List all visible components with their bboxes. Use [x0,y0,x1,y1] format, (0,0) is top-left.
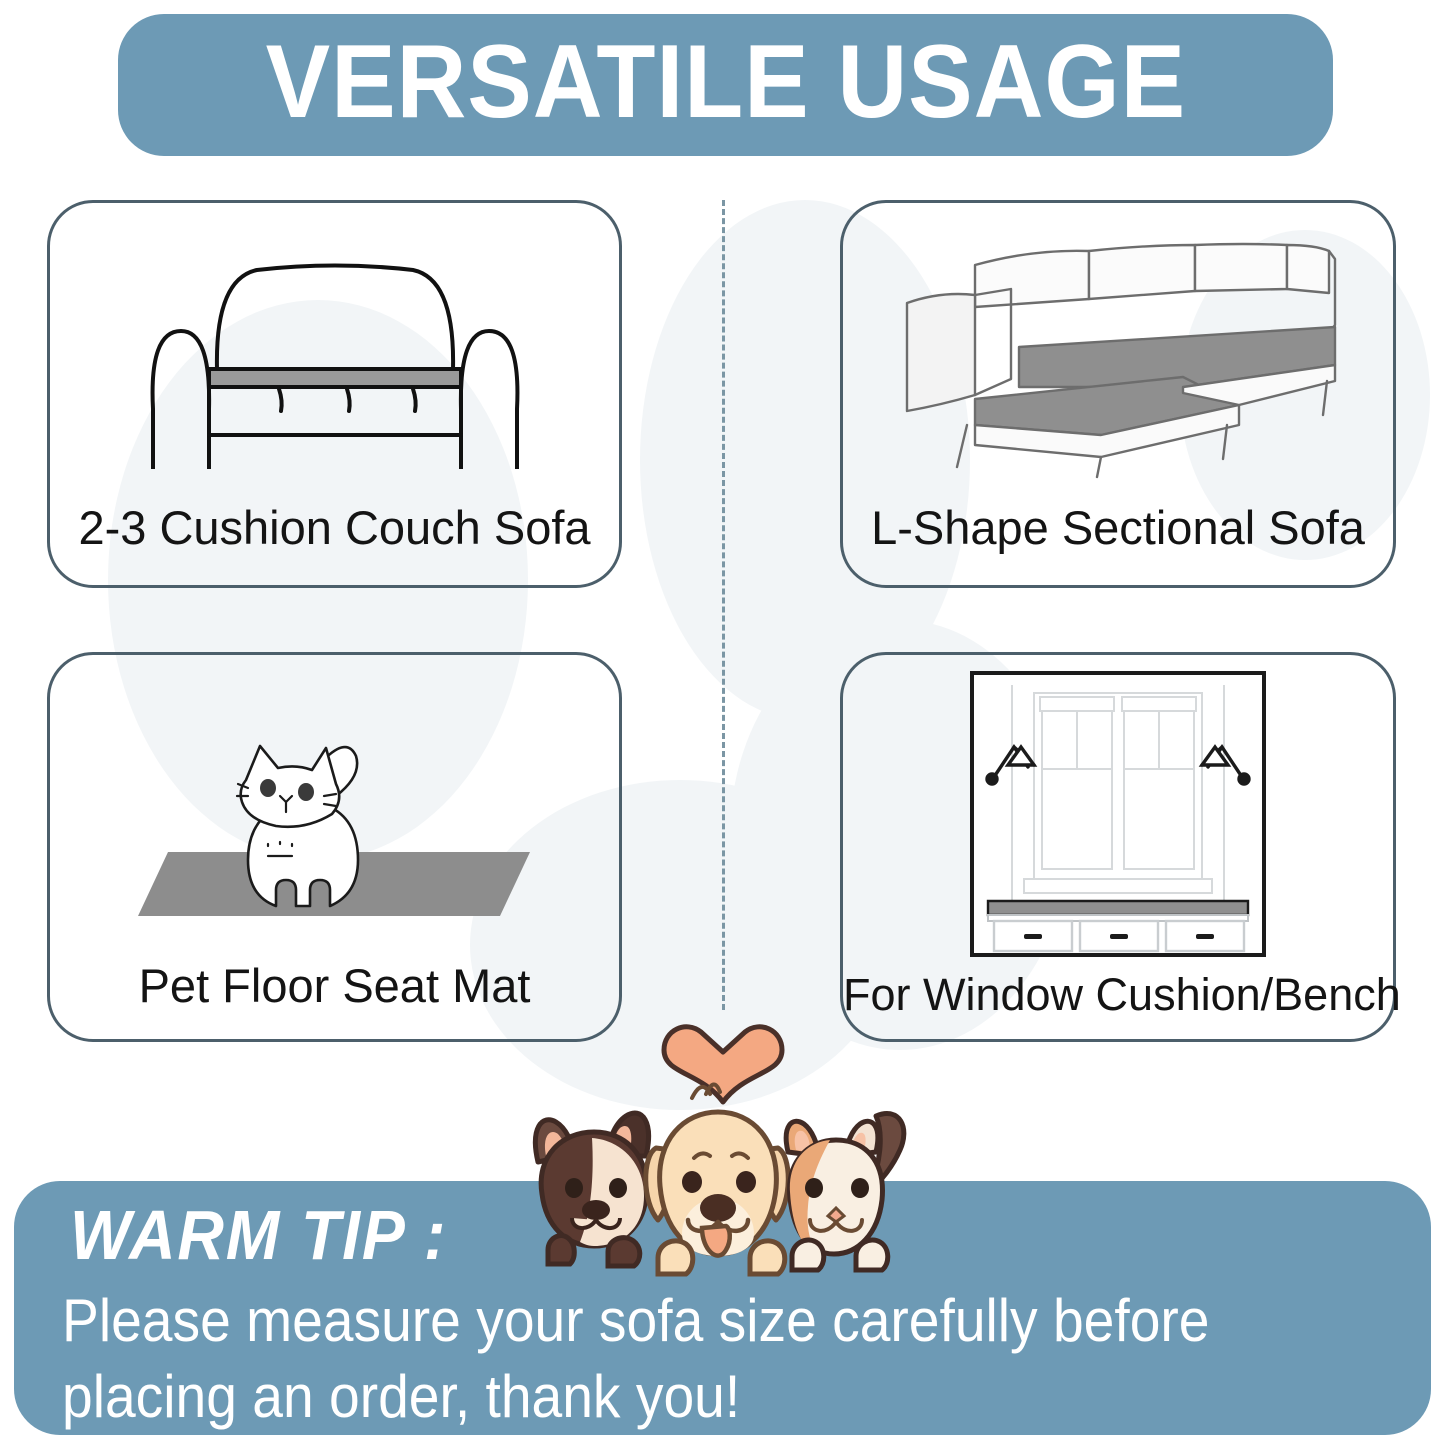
sofa-line-art-icon [135,239,535,469]
window-bench-sketch-icon [968,669,1268,959]
usage-card-window-bench[interactable]: For Window Cushion/Bench [840,652,1396,1042]
card-illustration [843,655,1393,972]
header-banner: VERSATILE USAGE [118,14,1333,156]
cream-cat-icon [786,1114,904,1270]
cat-eye [298,783,314,801]
page-title: VERSATILE USAGE [265,30,1185,140]
warm-tip-heading: WARM TIP : [70,1195,447,1275]
usage-card-couch-sofa[interactable]: 2-3 Cushion Couch Sofa [47,200,622,588]
infographic-page: VERSATILE USAGE [0,0,1445,1447]
usage-card-pet-mat[interactable]: Pet Floor Seat Mat [47,652,622,1042]
card-illustration [50,655,619,962]
heart-icon [664,1027,782,1102]
grid-divider [722,200,725,1010]
bench-cushion [988,901,1248,915]
french-bulldog-icon [535,1113,648,1266]
usage-card-sectional-sofa[interactable]: L-Shape Sectional Sofa [840,200,1396,588]
card-label: 2-3 Cushion Couch Sofa [50,504,619,585]
card-illustration [843,203,1393,504]
card-label: L-Shape Sectional Sofa [843,504,1393,585]
cat-eye [260,779,276,797]
cat-on-mat-icon [100,684,570,934]
golden-retriever-icon [646,1084,789,1274]
warm-tip-line-2: placing an order, thank you! [62,1367,740,1427]
pets-illustration [496,1006,951,1306]
card-illustration [50,203,619,504]
sectional-sofa-line-art-icon [883,229,1353,479]
